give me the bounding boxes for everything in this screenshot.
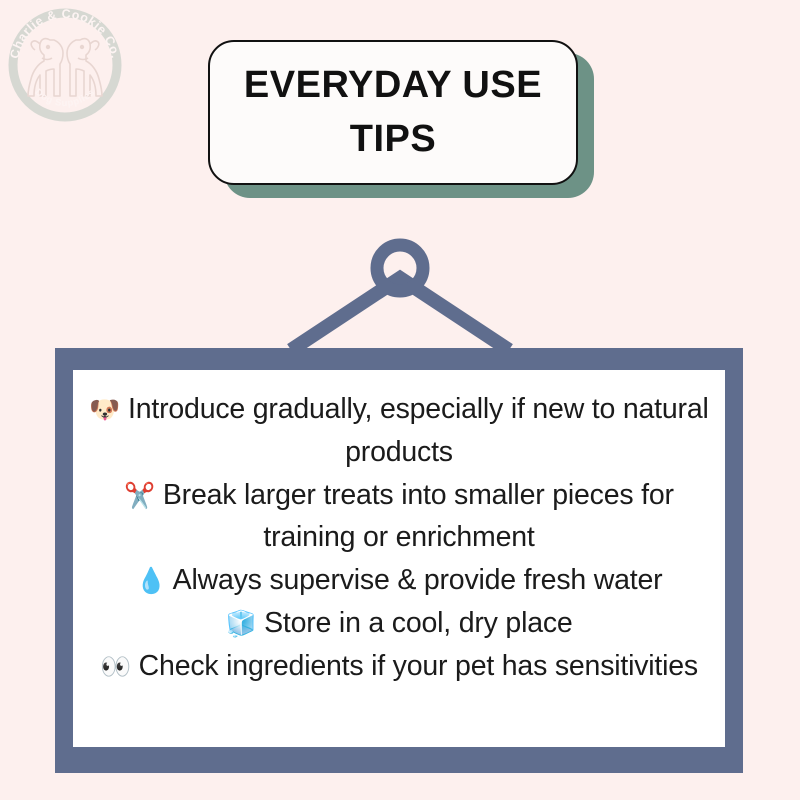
- eyes-emoji: 👀: [100, 652, 131, 681]
- scissors-emoji: ✂️: [124, 481, 155, 510]
- tips-board: 🐶 Introduce gradually, especially if new…: [55, 348, 743, 773]
- tip-line: 👀 Check ingredients if your pet has sens…: [81, 645, 717, 688]
- logo-graphic: Charlie & Cookie Co. Dog Supplies: [4, 4, 126, 126]
- banner-title-line-2: TIPS: [350, 113, 436, 167]
- dog-face-emoji: 🐶: [89, 395, 120, 424]
- logo-dogs: [28, 39, 63, 96]
- tip-text: Always supervise & provide fresh water: [173, 564, 663, 596]
- droplet-emoji: 💧: [136, 566, 167, 595]
- tip-text: Introduce gradually, especially if new t…: [128, 393, 709, 468]
- title-banner-container: EVERYDAY USE TIPS: [208, 40, 578, 185]
- hanger-graphic: [285, 232, 515, 357]
- tip-line: 🐶 Introduce gradually, especially if new…: [81, 388, 717, 474]
- sign-hanger: [285, 232, 515, 357]
- tip-text: Store in a cool, dry place: [264, 607, 572, 639]
- ice-cube-emoji: 🧊: [225, 609, 256, 638]
- brand-logo: Charlie & Cookie Co. Dog Supplies: [4, 4, 126, 126]
- tip-text: Break larger treats into smaller pieces …: [163, 479, 674, 554]
- title-banner: EVERYDAY USE TIPS: [208, 40, 578, 185]
- tip-text: Check ingredients if your pet has sensit…: [139, 650, 698, 682]
- banner-title-line-1: EVERYDAY USE: [244, 59, 542, 113]
- tips-board-inner: 🐶 Introduce gradually, especially if new…: [73, 370, 725, 747]
- logo-dogs-right: [67, 39, 102, 96]
- tip-line: 🧊 Store in a cool, dry place: [81, 602, 717, 645]
- tip-line: 💧 Always supervise & provide fresh water: [81, 559, 717, 602]
- logo-bottom-text: Dog Supplies: [33, 87, 98, 109]
- tip-line: ✂️ Break larger treats into smaller piec…: [81, 474, 717, 560]
